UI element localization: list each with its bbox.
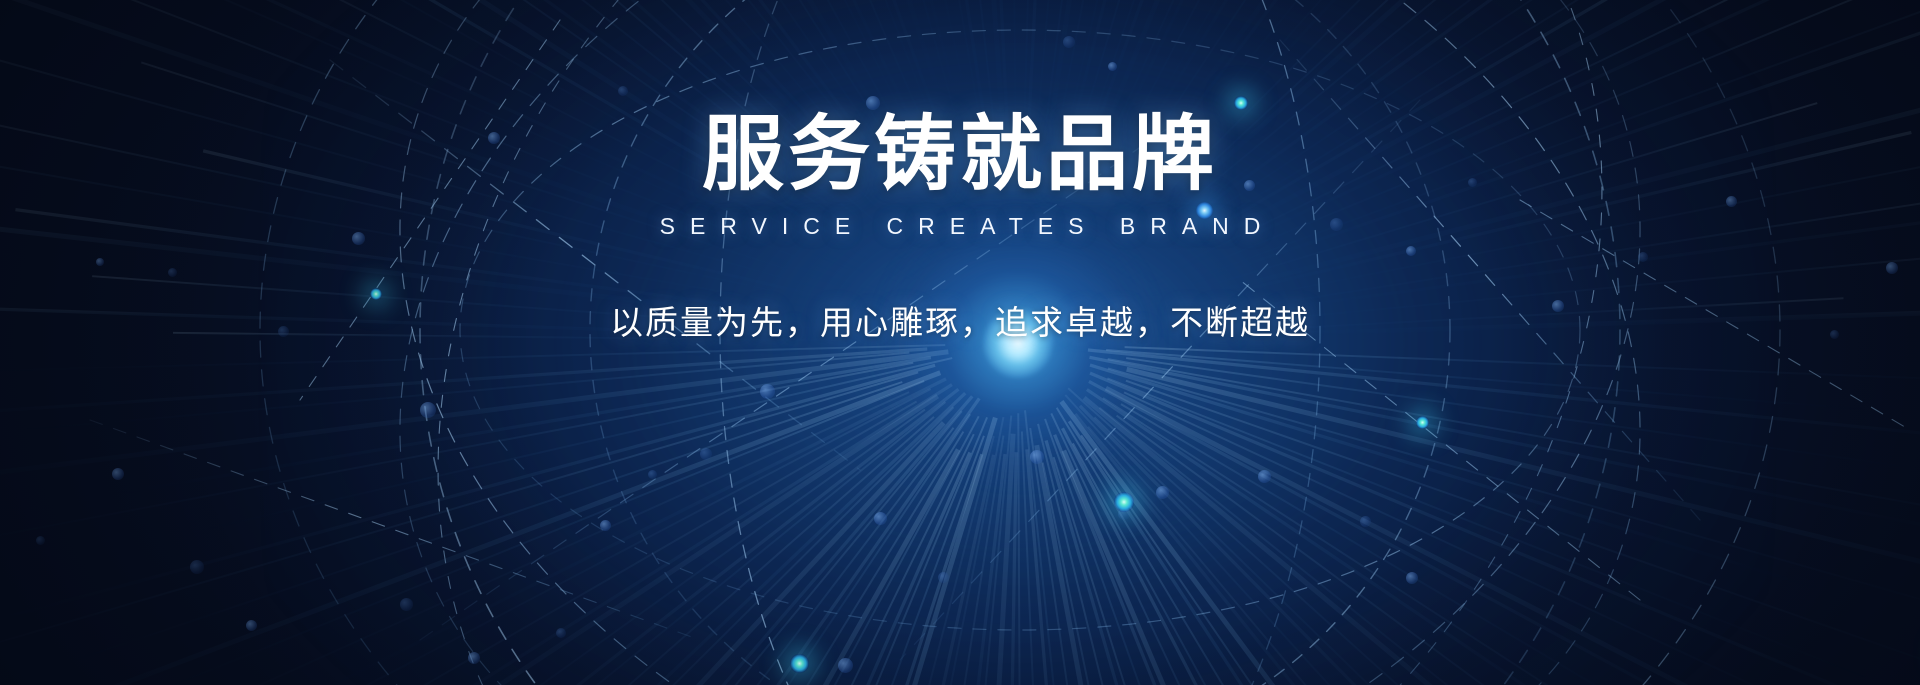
page-tagline: 以质量为先，用心雕琢，追求卓越，不断超越 [0, 296, 1920, 344]
page-title: 服务铸就品牌 [0, 112, 1920, 199]
banner-content: 服务铸就品牌 SERVICE CREATES BRAND 以质量为先，用心雕琢，… [0, 112, 1920, 344]
hero-banner: 服务铸就品牌 SERVICE CREATES BRAND 以质量为先，用心雕琢，… [0, 0, 1920, 685]
page-subtitle-english: SERVICE CREATES BRAND [0, 213, 1920, 240]
